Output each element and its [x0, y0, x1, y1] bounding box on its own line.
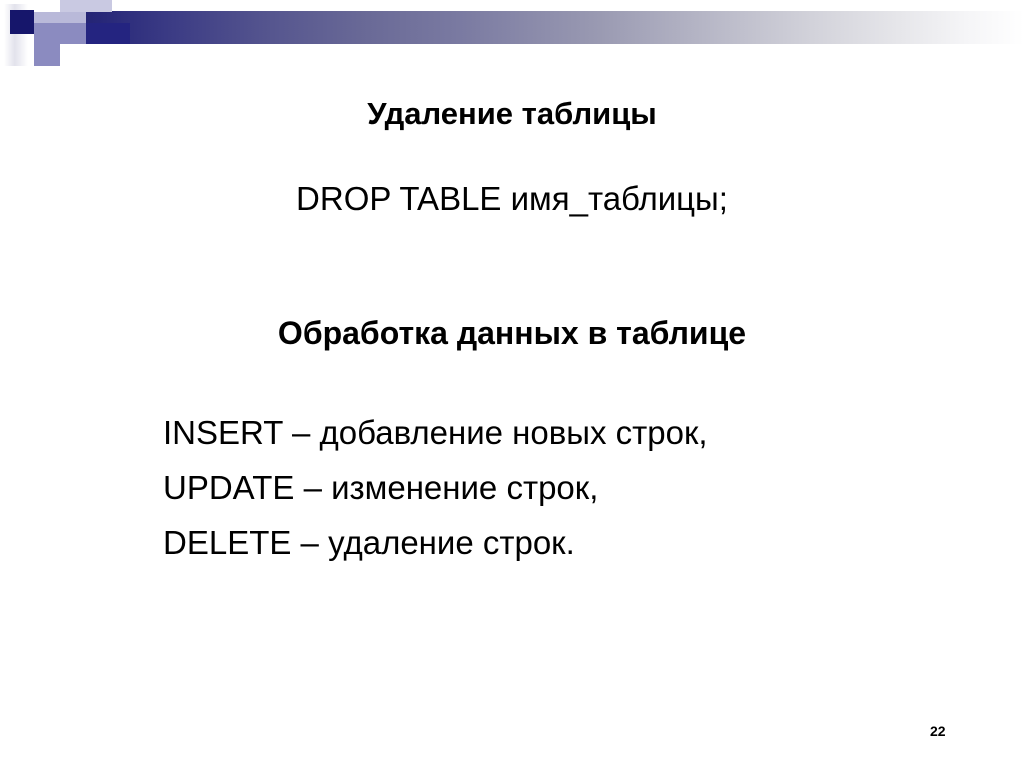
presentation-slide: Удаление таблицы DROP TABLE имя_таблицы;…	[0, 0, 1024, 767]
sql-insert-description: INSERT – добавление новых строк,	[163, 414, 708, 452]
sql-drop-table-statement: DROP TABLE имя_таблицы;	[0, 180, 1024, 218]
heading-table-deletion: Удаление таблицы	[0, 96, 1024, 132]
sql-update-description: UPDATE – изменение строк,	[163, 469, 598, 507]
heading-data-processing: Обработка данных в таблице	[0, 315, 1024, 352]
sql-delete-description: DELETE – удаление строк.	[163, 524, 575, 562]
slide-content: Удаление таблицы DROP TABLE имя_таблицы;…	[0, 0, 1024, 767]
slide-number: 22	[930, 723, 946, 739]
